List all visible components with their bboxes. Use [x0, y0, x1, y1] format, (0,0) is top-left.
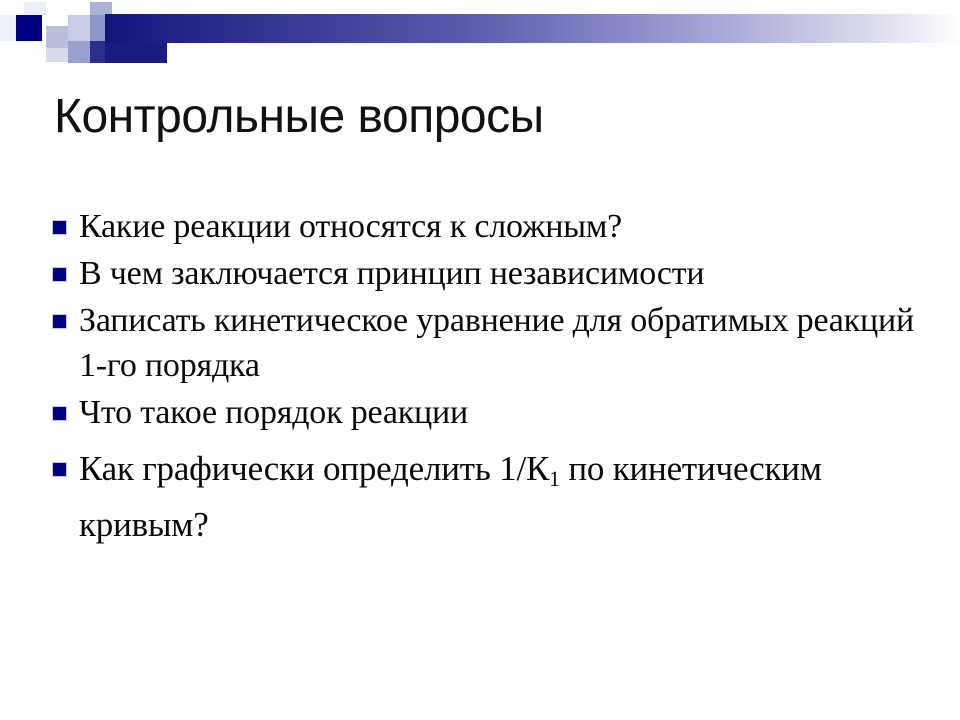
page-title: Контрольные вопросы — [54, 88, 914, 146]
list-item-label-subscript: 1 — [549, 467, 560, 491]
header-gradient-bar — [105, 14, 960, 43]
square-bullet-icon — [52, 406, 67, 421]
list-item-label: В чем заключается принцип независимости — [79, 251, 932, 296]
list-item: Какие реакции относятся к сложным? — [52, 204, 932, 249]
list-item-label: Записать кинетическое уравнение для обра… — [79, 298, 932, 388]
deco-square-pale-top — [24, 2, 46, 15]
bullet-list: Какие реакции относятся к сложным? В чем… — [52, 204, 932, 553]
deco-square-c — [68, 15, 90, 41]
header-decoration — [0, 0, 960, 62]
deco-square-b — [46, 48, 68, 62]
square-bullet-icon — [52, 314, 67, 329]
slide-canvas: Контрольные вопросы Какие реакции относя… — [0, 0, 960, 720]
list-item-label: Как графически определить 1/К1 по кинети… — [79, 443, 932, 551]
list-item: Как графически определить 1/К1 по кинети… — [52, 443, 932, 551]
list-item: Записать кинетическое уравнение для обра… — [52, 298, 932, 388]
square-bullet-icon — [52, 462, 67, 477]
deco-square-navy — [16, 15, 42, 41]
list-item: Что такое порядок реакции — [52, 390, 932, 435]
list-item-label: Какие реакции относятся к сложным? — [79, 204, 932, 249]
deco-square-g — [90, 41, 105, 63]
deco-square-pale-left — [0, 15, 16, 41]
list-item: В чем заключается принцип независимости — [52, 251, 932, 296]
list-item-label: Что такое порядок реакции — [79, 390, 932, 435]
square-bullet-icon — [52, 267, 67, 282]
deco-square-h — [105, 43, 167, 63]
deco-square-a — [46, 26, 68, 48]
list-item-label-before: Как графически определить 1/К — [79, 449, 549, 488]
square-bullet-icon — [52, 220, 67, 235]
deco-square-d — [68, 41, 90, 63]
